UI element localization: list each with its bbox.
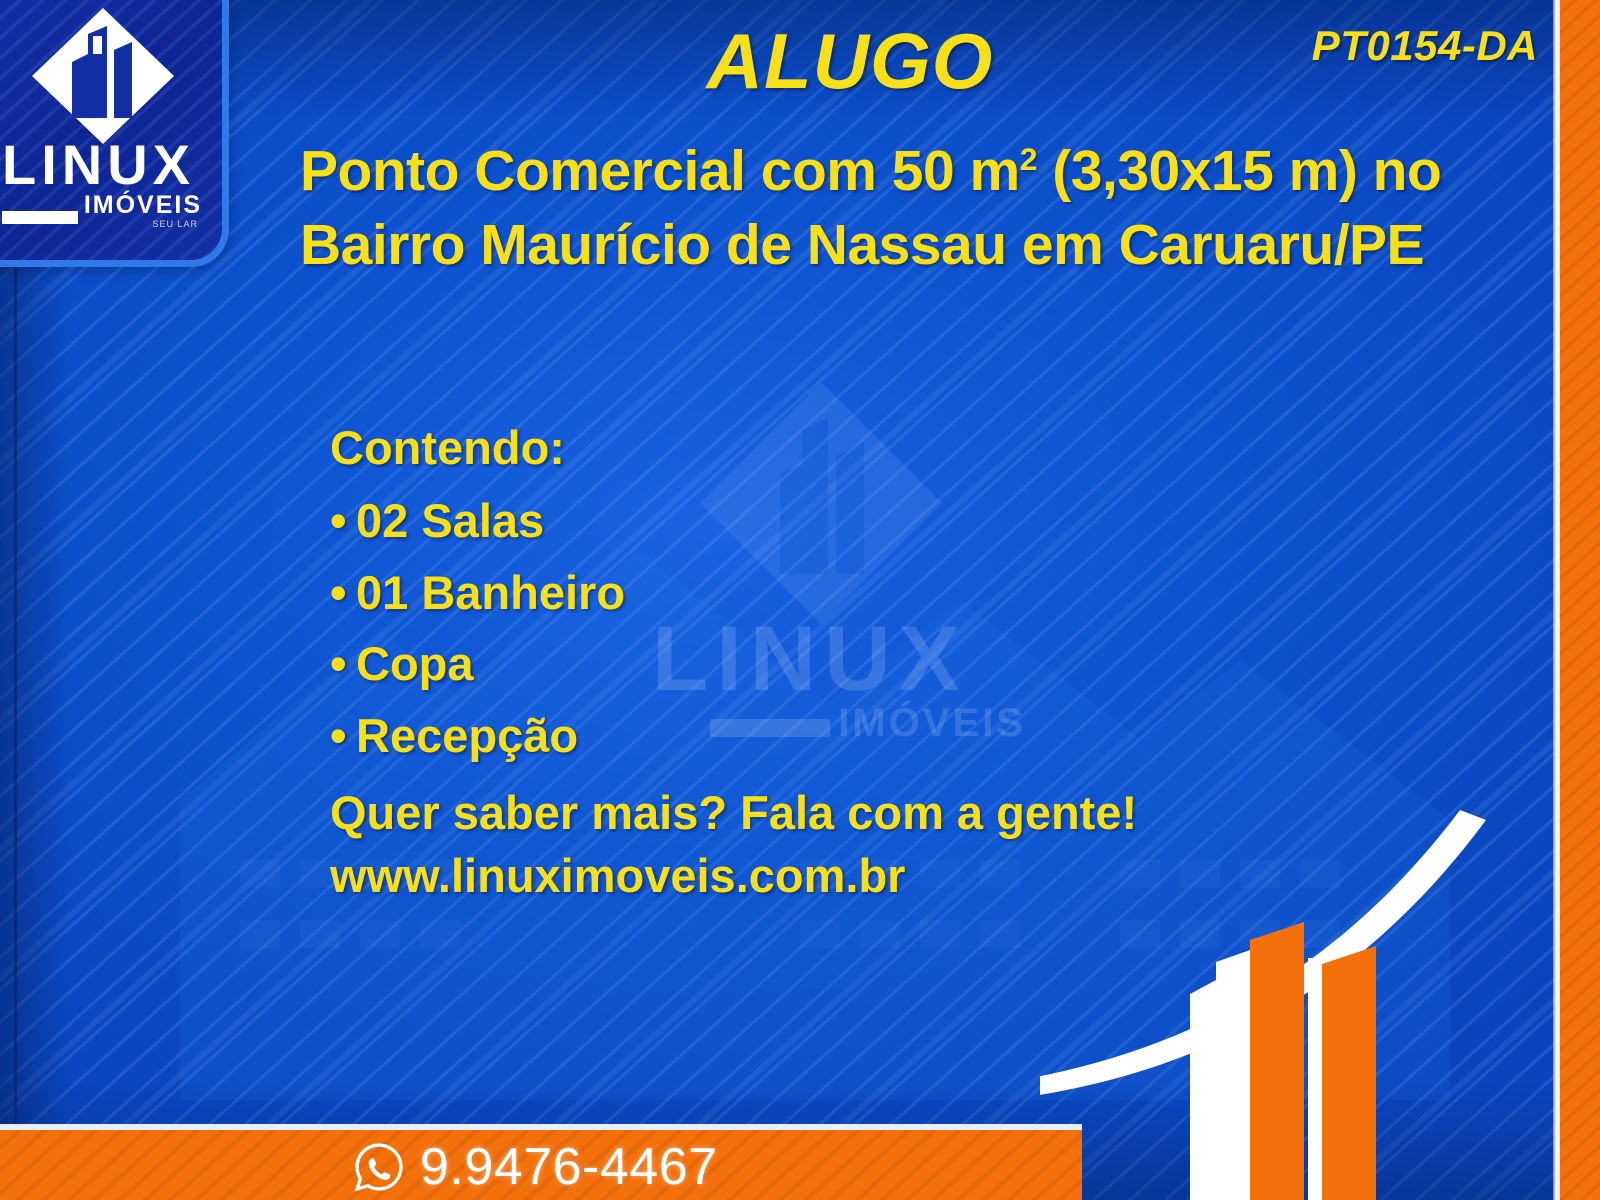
list-item: •02 Salas (330, 485, 625, 556)
bullet-glyph: • (330, 628, 356, 699)
reference-code: PT0154-DA (1312, 22, 1538, 70)
feature-label: Recepção (356, 709, 578, 762)
headline-line2: Bairro Maurício de Nassau em Caruaru/PE (300, 213, 1424, 277)
feature-label: 02 Salas (356, 494, 544, 547)
headline-line1-pre: Ponto Comercial com 50 m (300, 139, 1020, 203)
list-item: •01 Banheiro (330, 557, 625, 628)
list-item: •Copa (330, 628, 625, 699)
real-estate-ad-poster: LINUX IMÓVEIS 9.9476-4467 (0, 0, 1600, 1200)
logo-name: LINUX (2, 138, 202, 191)
footer-contact[interactable]: 9.9476-4467 (352, 1132, 718, 1200)
features-list: •02 Salas •01 Banheiro •Copa •Recepção (330, 485, 625, 771)
features-title: Contendo: (330, 412, 625, 483)
building-diamond-icon (28, 6, 178, 146)
list-item: •Recepção (330, 700, 625, 771)
logo-tagline: SEU LAR (84, 219, 202, 229)
logo-subtitle: IMÓVEIS (84, 191, 202, 219)
logo-wordmark: LINUX IMÓVEIS SEU LAR (2, 138, 202, 229)
phone-number[interactable]: 9.9476-4467 (420, 1137, 718, 1197)
company-logo-badge[interactable]: LINUX IMÓVEIS SEU LAR (0, 0, 229, 267)
page-title: Ponto Comercial com 50 m2 (3,30x15 m) no… (300, 134, 1510, 282)
headline-superscript: 2 (1020, 141, 1037, 177)
feature-label: Copa (356, 637, 474, 690)
ad-type-title: ALUGO (620, 16, 1080, 107)
website-url[interactable]: www.linuximoveis.com.br (330, 845, 1137, 908)
headline-line1-post: (3,30x15 m) no (1037, 139, 1441, 203)
features-section: Contendo: •02 Salas •01 Banheiro •Copa •… (330, 412, 625, 771)
feature-label: 01 Banheiro (356, 566, 625, 619)
bullet-glyph: • (330, 557, 356, 628)
cta-question: Quer saber mais? Fala com a gente! (330, 782, 1137, 845)
bullet-glyph: • (330, 485, 356, 556)
bullet-glyph: • (330, 700, 356, 771)
whatsapp-icon[interactable] (352, 1140, 406, 1194)
call-to-action: Quer saber mais? Fala com a gente! www.l… (330, 782, 1137, 907)
logo-rule (2, 211, 78, 224)
orange-building-icon (1190, 922, 1376, 1200)
